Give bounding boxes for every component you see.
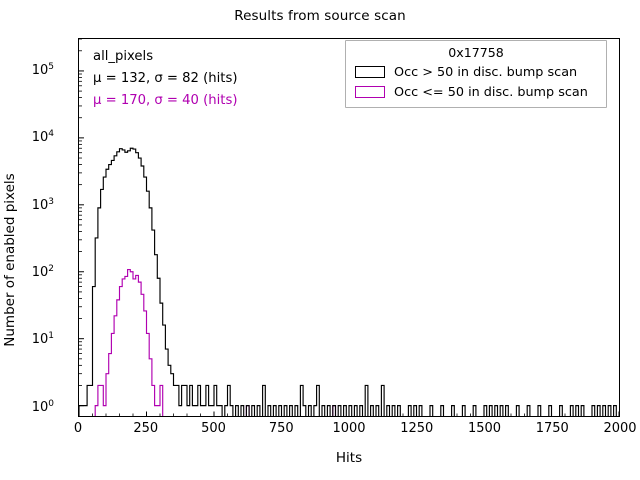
x-tick-label: 250 bbox=[133, 421, 158, 436]
y-tick-label: 103 bbox=[32, 197, 54, 213]
legend-title: 0x17758 bbox=[353, 45, 599, 62]
y-tick-label: 104 bbox=[32, 129, 54, 145]
legend-box: 0x17758 Occ > 50 in disc. bump scan Occ … bbox=[345, 40, 607, 108]
annotation-stats-magenta: μ = 170, σ = 40 (hits) bbox=[93, 90, 238, 112]
figure-canvas: Results from source scan Number of enabl… bbox=[0, 0, 640, 480]
y-tick-label: 102 bbox=[32, 264, 54, 280]
legend-swatch-icon-magenta bbox=[355, 86, 385, 98]
annotation-stats-black: μ = 132, σ = 82 (hits) bbox=[93, 68, 238, 90]
histogram-series bbox=[95, 270, 335, 416]
x-tick-label: 0 bbox=[74, 421, 82, 436]
y-axis-label: Number of enabled pixels bbox=[2, 50, 18, 470]
x-axis-label: Hits bbox=[78, 450, 620, 466]
y-tick-label: 105 bbox=[32, 62, 54, 78]
annotation-dataset: all_pixels bbox=[93, 46, 238, 68]
legend-swatch-icon-black bbox=[355, 66, 385, 78]
legend-item-occ-gt-50[interactable]: Occ > 50 in disc. bump scan bbox=[353, 62, 599, 82]
x-tick-label: 1500 bbox=[468, 421, 501, 436]
x-tick-label: 1250 bbox=[400, 421, 433, 436]
x-tick-label: 1750 bbox=[536, 421, 569, 436]
x-tick-label: 2000 bbox=[603, 421, 636, 436]
y-tick-label: 101 bbox=[32, 331, 54, 347]
x-tick-label: 1000 bbox=[332, 421, 365, 436]
legend-label-occ-gt-50: Occ > 50 in disc. bump scan bbox=[394, 65, 577, 80]
legend-label-occ-le-50: Occ <= 50 in disc. bump scan bbox=[394, 85, 588, 100]
y-axis-label-container: Number of enabled pixels bbox=[14, 38, 34, 417]
chart-title: Results from source scan bbox=[0, 8, 640, 24]
y-tick-label: 100 bbox=[32, 398, 54, 414]
x-tick-label: 500 bbox=[201, 421, 226, 436]
x-tick-label: 750 bbox=[269, 421, 294, 436]
legend-item-occ-le-50[interactable]: Occ <= 50 in disc. bump scan bbox=[353, 82, 599, 102]
histogram-series bbox=[79, 148, 616, 416]
stats-annotation: all_pixels μ = 132, σ = 82 (hits) μ = 17… bbox=[93, 46, 238, 112]
